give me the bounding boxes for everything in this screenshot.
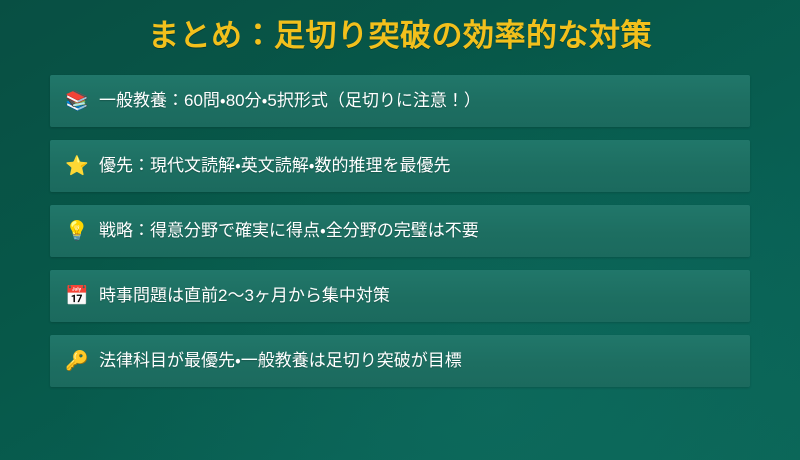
summary-slide: まとめ：足切り突破の効率的な対策 📚 一般教養：60問・80分・5択形式（足切り… (0, 0, 800, 460)
star-icon: ⭐ (64, 153, 90, 179)
list-item: 📚 一般教養：60問・80分・5択形式（足切りに注意！） (50, 75, 750, 127)
list-item: 📅 時事問題は直前2〜3ヶ月から集中対策 (50, 270, 750, 322)
summary-point-list: 📚 一般教養：60問・80分・5択形式（足切りに注意！） ⭐ 優先：現代文読解・… (50, 75, 750, 387)
lightbulb-icon: 💡 (64, 218, 90, 244)
list-item: ⭐ 優先：現代文読解・英文読解・数的推理を最優先 (50, 140, 750, 192)
list-item: 💡 戦略：得意分野で確実に得点・全分野の完璧は不要 (50, 205, 750, 257)
list-item-label: 優先：現代文読解・英文読解・数的推理を最優先 (99, 153, 736, 179)
list-item-label: 法律科目が最優先・一般教養は足切り突破が目標 (99, 348, 736, 374)
list-item-label: 戦略：得意分野で確実に得点・全分野の完璧は不要 (99, 218, 736, 244)
page-title: まとめ：足切り突破の効率的な対策 (0, 16, 800, 56)
key-icon: 🔑 (64, 348, 90, 374)
calendar-icon: 📅 (64, 283, 90, 309)
books-icon: 📚 (64, 88, 90, 114)
list-item: 🔑 法律科目が最優先・一般教養は足切り突破が目標 (50, 335, 750, 387)
list-item-label: 一般教養：60問・80分・5択形式（足切りに注意！） (99, 88, 736, 114)
list-item-label: 時事問題は直前2〜3ヶ月から集中対策 (99, 283, 736, 309)
